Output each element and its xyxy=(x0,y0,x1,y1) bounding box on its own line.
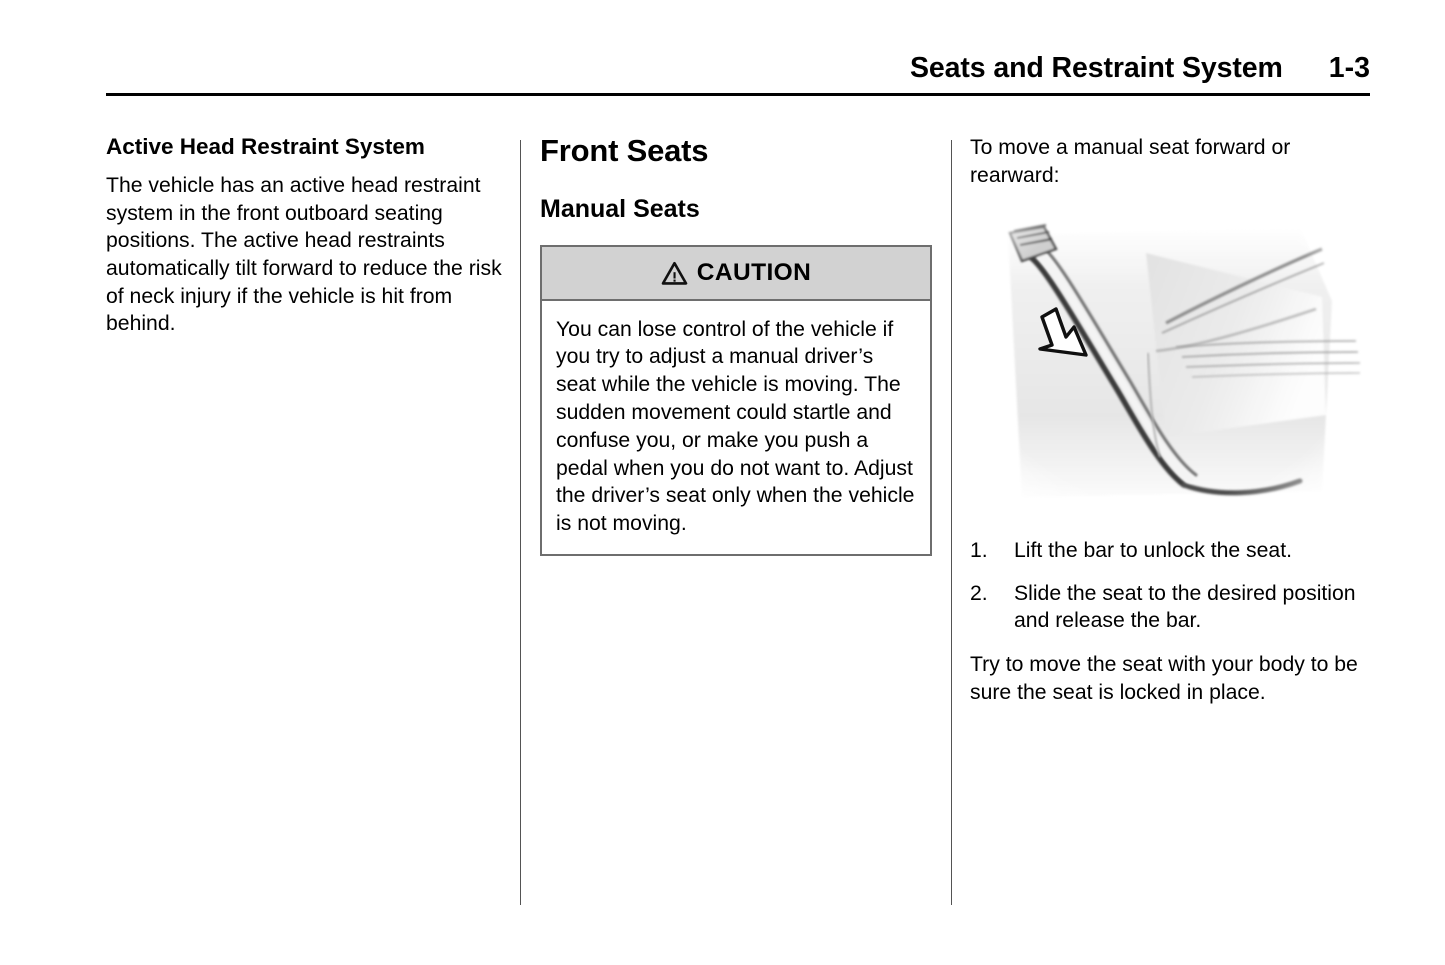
page-title: Seats and Restraint System xyxy=(910,52,1283,85)
column-middle: Front Seats Manual Seats CAUTION You can… xyxy=(540,134,936,556)
heading-manual-seats: Manual Seats xyxy=(540,196,936,224)
step-text: Slide the seat to the desired position a… xyxy=(1014,582,1356,633)
caution-box-body: You can lose control of the vehicle if y… xyxy=(542,301,930,554)
manual-page: Seats and Restraint System 1-3 Active He… xyxy=(0,0,1445,965)
header-rule xyxy=(106,93,1370,96)
step-number: 2. xyxy=(970,580,1002,608)
step-text: Lift the bar to unlock the seat. xyxy=(1014,539,1292,562)
column-divider-right xyxy=(951,140,952,905)
step-number: 1. xyxy=(970,537,1002,565)
column-right: To move a manual seat forward or rearwar… xyxy=(970,134,1370,706)
column-left: Active Head Restraint System The vehicle… xyxy=(106,134,506,338)
heading-active-head-restraint-system: Active Head Restraint System xyxy=(106,134,506,159)
list-item: 2. Slide the seat to the desired positio… xyxy=(970,580,1370,635)
caution-box: CAUTION You can lose control of the vehi… xyxy=(540,245,932,556)
page-header: Seats and Restraint System 1-3 xyxy=(106,52,1370,100)
list-item: 1. Lift the bar to unlock the seat. xyxy=(970,537,1370,565)
paragraph-move-manual-seat-intro: To move a manual seat forward or rearwar… xyxy=(970,134,1370,189)
caution-box-header: CAUTION xyxy=(542,247,930,301)
warning-triangle-icon xyxy=(661,261,688,286)
paragraph-verify-seat-locked: Try to move the seat with your body to b… xyxy=(970,651,1370,706)
manual-seat-adjustment-bar-illustration xyxy=(970,205,1362,515)
column-divider-left xyxy=(520,140,521,905)
caution-text: You can lose control of the vehicle if y… xyxy=(556,316,916,538)
page-number: 1-3 xyxy=(1329,52,1370,85)
steps-list: 1. Lift the bar to unlock the seat. 2. S… xyxy=(970,537,1370,635)
caution-label: CAUTION xyxy=(697,259,811,287)
paragraph-active-head-restraint: The vehicle has an active head restraint… xyxy=(106,172,506,338)
heading-front-seats: Front Seats xyxy=(540,134,936,168)
